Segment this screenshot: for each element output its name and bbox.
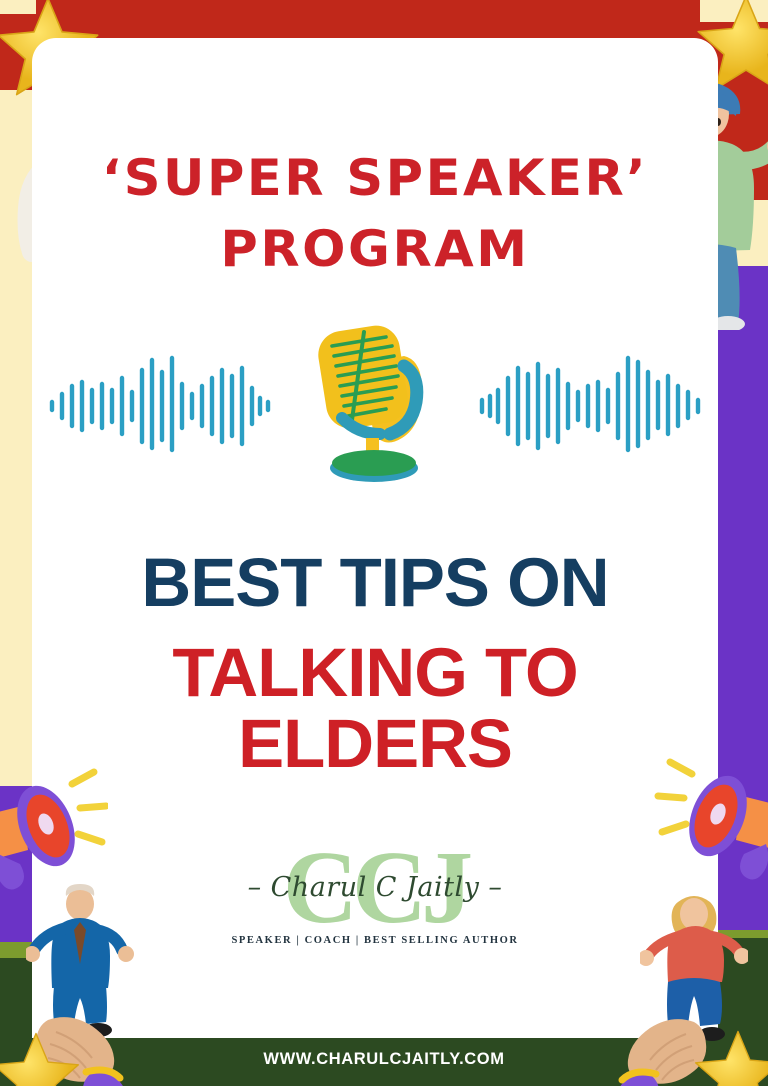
border-band-left-purple (0, 786, 36, 962)
headline-block: BEST TIPS ON TALKING TO ELDERS (32, 548, 718, 779)
program-title: ‘SUPER SPEAKER’ PROGRAM (32, 143, 718, 285)
website-bar: WWW.CHARULCJAITLY.COM (0, 1033, 768, 1086)
logo-script-name: – Charul C Jaitly – (225, 872, 525, 903)
headline-primary: BEST TIPS ON (32, 548, 718, 618)
retro-microphone-icon (292, 310, 458, 486)
program-title-line-1: ‘SUPER SPEAKER’ (25, 143, 725, 214)
microphone-graphic-row (32, 308, 718, 488)
program-title-line-2: PROGRAM (25, 214, 725, 285)
brand-logo: CCJ – Charul C Jaitly – SPEAKER | COACH … (32, 836, 718, 971)
logo-tagline: SPEAKER | COACH | BEST SELLING AUTHOR (225, 935, 525, 946)
website-url[interactable]: WWW.CHARULCJAITLY.COM (263, 1050, 504, 1069)
poster-canvas: ‘SUPER SPEAKER’ PROGRAM (0, 0, 768, 1086)
border-band-topleft-cream (0, 0, 36, 14)
sound-wave-icon (46, 348, 276, 456)
headline-secondary: TALKING TO ELDERS (32, 638, 718, 779)
border-band-topright-cream (700, 0, 768, 22)
sound-wave-icon (476, 348, 706, 456)
poster-card: ‘SUPER SPEAKER’ PROGRAM (32, 38, 718, 1038)
